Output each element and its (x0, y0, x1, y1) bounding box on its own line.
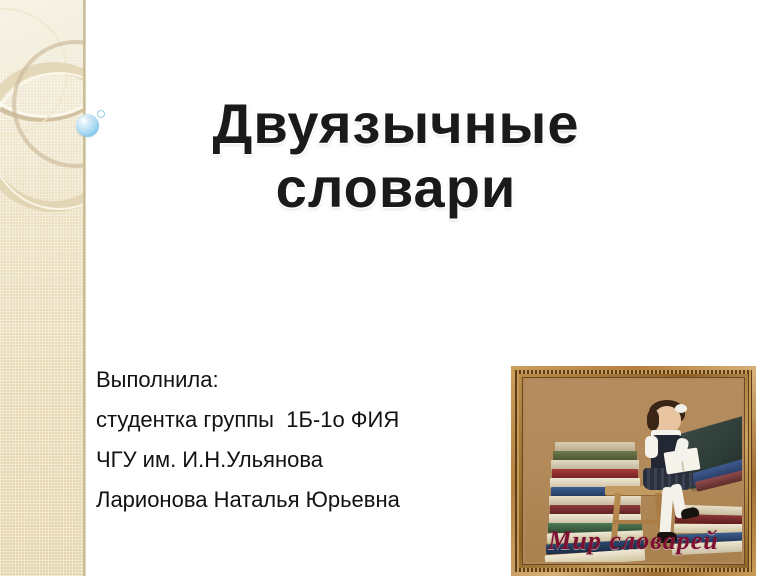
girl-hair-side (647, 410, 659, 430)
picture-frame-lip: Мир словарей (522, 377, 745, 565)
girl-hair-bow (675, 404, 687, 413)
decorative-sidebar (0, 0, 86, 576)
picture-frame-beading: Мир словарей (515, 370, 752, 572)
presentation-slide: Двуязычные словари Выполнила: студентка … (0, 0, 768, 576)
author-line-1: Выполнила: (96, 360, 496, 400)
author-line-4: Ларионова Наталья Юрьевна (96, 480, 496, 520)
picture-frame-outer: Мир словарей (511, 366, 756, 576)
picture-frame-inner-moulding: Мир словарей (519, 374, 748, 568)
sidebar-edge-line (83, 0, 86, 576)
picture-canvas: Мир словарей (525, 380, 742, 562)
stool-crossbar (613, 520, 663, 524)
author-info-block: Выполнила: студентка группы 1Б-1о ФИЯ ЧГ… (96, 360, 496, 520)
author-line-2: студентка группы 1Б-1о ФИЯ (96, 400, 496, 440)
author-line-3: ЧГУ им. И.Н.Ульянова (96, 440, 496, 480)
page-title: Двуязычные словари (96, 92, 696, 220)
picture-caption: Мир словарей (525, 526, 742, 556)
framed-picture: Мир словарей (511, 366, 756, 576)
girl-sleeve (645, 436, 658, 458)
